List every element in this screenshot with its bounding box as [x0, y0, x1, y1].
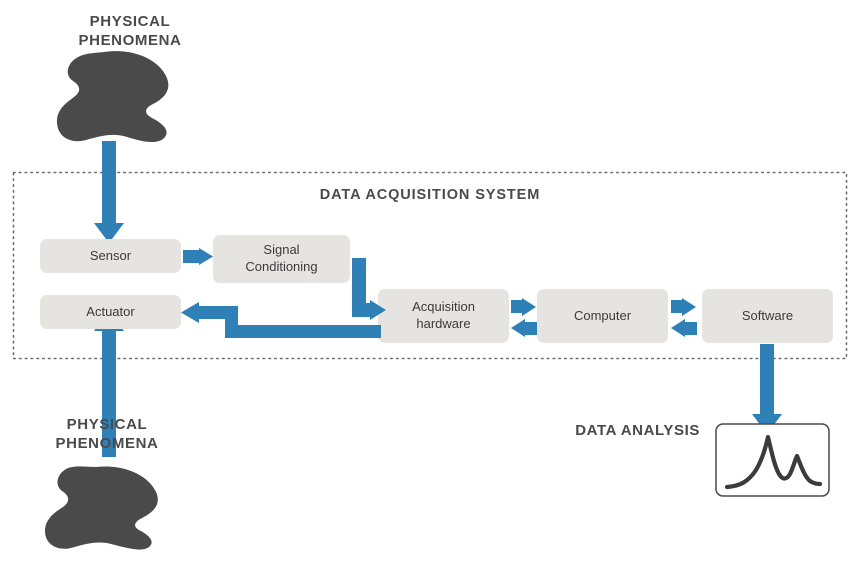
system-title: DATA ACQUISITION SYSTEM [280, 187, 580, 203]
physical-phenomena-label-top: PHYSICAL PHENOMENA [40, 12, 220, 50]
box-label-software: Software [702, 289, 833, 343]
arrow-acquisition-computer-bidirectional [511, 298, 537, 337]
box-label-signal-conditioning: Signal Conditioning [213, 235, 350, 283]
physical-phenomena-blob-top [57, 51, 168, 142]
physical-phenomena-label-bottom: PHYSICAL PHENOMENA [12, 415, 202, 453]
arrow-acquisition-to-actuator-feedback [181, 302, 381, 338]
box-label-acquisition-hardware: Acquisition hardware [378, 289, 509, 343]
diagram-canvas: .blob { fill: #4A4A4A; } .arw { fill: #2… [0, 0, 860, 562]
box-label-computer: Computer [537, 289, 668, 343]
arrow-computer-software-bidirectional [671, 298, 697, 337]
box-label-sensor: Sensor [40, 239, 181, 273]
data-acquisition-system-diagram: .blob { fill: #4A4A4A; } .arw { fill: #2… [0, 0, 860, 562]
data-analysis-label: DATA ANALYSIS [560, 421, 700, 440]
box-label-actuator: Actuator [40, 295, 181, 329]
arrow-software-to-data-analysis [752, 344, 782, 434]
arrow-sensor-to-signal-conditioning [183, 248, 213, 265]
arrow-phenomena-to-sensor [94, 141, 124, 243]
physical-phenomena-blob-bottom [45, 466, 158, 549]
